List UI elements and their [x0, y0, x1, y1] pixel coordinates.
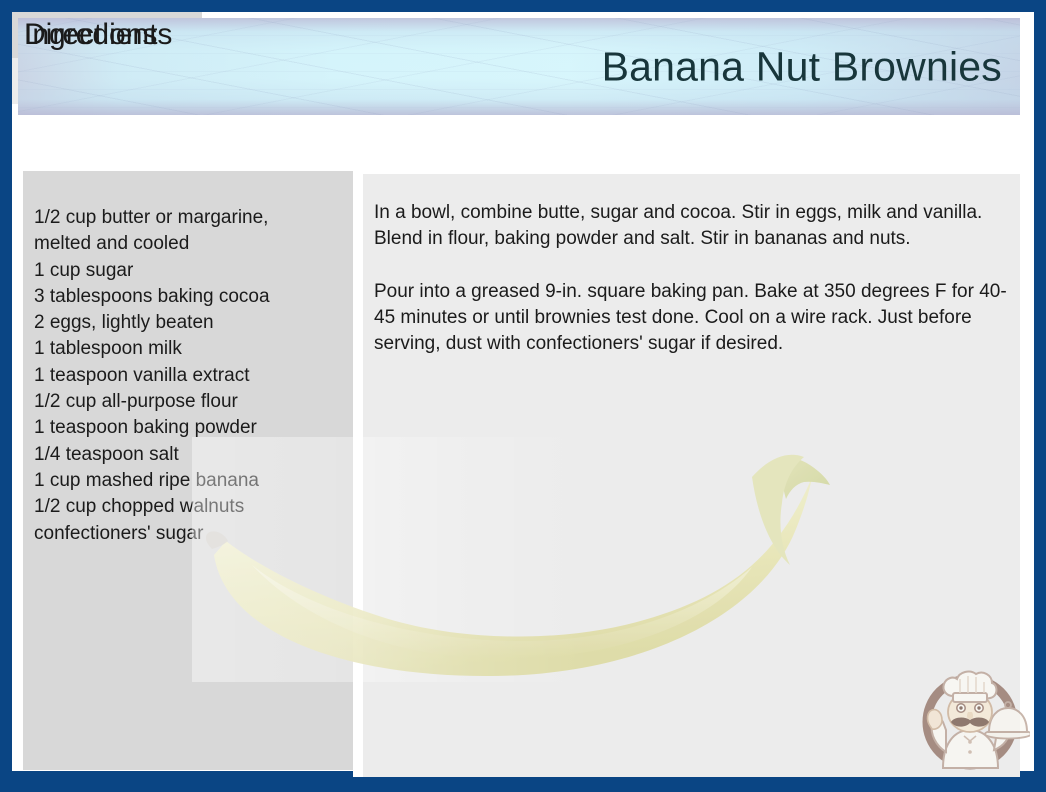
slide-page: Banana Nut Brownies Ingredients 1/2 cup … [12, 12, 1034, 771]
list-item: 1 cup mashed ripe banana [34, 468, 350, 494]
list-item: 1 cup sugar [34, 258, 350, 284]
column-gutter [353, 125, 363, 777]
list-item: melted and cooled [34, 231, 350, 257]
ingredients-heading-notch [213, 125, 363, 171]
list-item: 1 teaspoon baking powder [34, 415, 350, 441]
directions-heading-notch [509, 128, 1021, 174]
list-item: 3 tablespoons baking cocoa [34, 284, 350, 310]
directions-paragraph: Pour into a greased 9-in. square baking … [374, 279, 1014, 358]
ingredients-panel: 1/2 cup butter or margarine, melted and … [23, 171, 353, 770]
slide-canvas: Banana Nut Brownies Ingredients 1/2 cup … [0, 0, 1046, 792]
list-item: confectioners' sugar [34, 521, 350, 547]
list-item: 1 tablespoon milk [34, 336, 350, 362]
list-item: 1/2 cup chopped walnuts [34, 494, 350, 520]
list-item: 1 teaspoon vanilla extract [34, 363, 350, 389]
list-item: 1/4 teaspoon salt [34, 442, 350, 468]
directions-text: In a bowl, combine butte, sugar and coco… [374, 200, 1014, 357]
ingredients-list: 1/2 cup butter or margarine, melted and … [34, 205, 350, 547]
directions-paragraph: In a bowl, combine butte, sugar and coco… [374, 200, 1014, 253]
page-title: Banana Nut Brownies [602, 43, 1002, 90]
directions-heading: Directions [12, 12, 171, 59]
list-item: 2 eggs, lightly beaten [34, 310, 350, 336]
list-item: 1/2 cup all-purpose flour [34, 389, 350, 415]
list-item: 1/2 cup butter or margarine, [34, 205, 350, 231]
chef-mascot-logo [910, 660, 1030, 780]
